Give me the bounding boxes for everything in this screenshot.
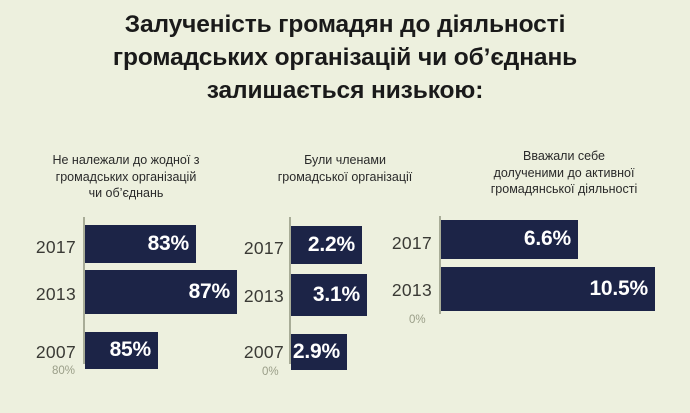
chart-1-bar-2013: 87% — [85, 270, 237, 314]
chart-2-bar-2017: 2.2% — [291, 226, 362, 264]
chart-3-plot: 2017 6.6% 2013 10.5% 0% — [442, 198, 686, 348]
chart-1-title-line-2: громадських організацій — [10, 169, 242, 186]
chart-2-value-2007: 2.9% — [293, 340, 347, 364]
chart-2-plot: 2017 2.2% 2013 3.1% 2007 2.9% 0% — [252, 185, 438, 335]
chart-2-title-line-2: громадської організації — [252, 169, 438, 186]
chart-1-value-2017: 83% — [148, 232, 196, 256]
headline-line-3: залишається низькою: — [0, 74, 690, 107]
chart-3-bar-2017: 6.6% — [441, 220, 578, 259]
chart-1-title: Не належали до жодної з громадських орга… — [10, 148, 242, 202]
chart-2-axis-origin-label: 0% — [262, 366, 279, 378]
chart-1-bar-2007: 85% — [85, 332, 158, 369]
chart-1-year-2017: 2017 — [10, 237, 76, 258]
chart-3-bar-2013: 10.5% — [441, 267, 655, 311]
chart-2-title: Були членами громадської організації — [252, 148, 438, 185]
chart-1-axis-origin-label: 80% — [52, 365, 75, 377]
chart-2-bar-2013: 3.1% — [291, 274, 367, 316]
chart-panel-not-member: Не належали до жодної з громадських орга… — [10, 148, 242, 352]
chart-3-title-line-1: Вважали себе — [442, 148, 686, 165]
chart-3-year-2013: 2013 — [372, 280, 432, 301]
infographic-page: Залученість громадян до діяльності грома… — [0, 0, 690, 413]
headline-line-1: Залученість громадян до діяльності — [0, 8, 690, 41]
chart-3-title-line-3: громадянської діяльності — [442, 181, 686, 198]
chart-1-year-2007: 2007 — [10, 342, 76, 363]
chart-2-year-2017: 2017 — [224, 238, 284, 259]
chart-1-bar-2017: 83% — [85, 225, 196, 263]
chart-1-title-line-1: Не належали до жодної з — [10, 152, 242, 169]
chart-1-title-line-3: чи об’єднань — [10, 185, 242, 202]
chart-2-title-line-1: Були членами — [252, 152, 438, 169]
chart-1-year-2013: 2013 — [10, 284, 76, 305]
chart-2-bar-2007: 2.9% — [291, 334, 347, 370]
chart-3-value-2017: 6.6% — [524, 227, 578, 251]
chart-1-value-2007: 85% — [110, 338, 158, 362]
chart-3-value-2013: 10.5% — [589, 277, 655, 301]
chart-2-year-2007: 2007 — [224, 342, 284, 363]
chart-3-title: Вважали себе долученими до активної гром… — [442, 148, 686, 198]
page-title: Залученість громадян до діяльності грома… — [0, 8, 690, 107]
chart-panel-active-citizen: Вважали себе долученими до активної гром… — [442, 148, 686, 348]
chart-2-value-2017: 2.2% — [308, 233, 362, 257]
chart-3-axis-origin-label: 0% — [409, 314, 426, 326]
chart-2-value-2013: 3.1% — [313, 283, 367, 307]
chart-2-year-2013: 2013 — [224, 286, 284, 307]
headline-line-2: громадських організацій чи об’єднань — [0, 41, 690, 74]
chart-3-year-2017: 2017 — [372, 233, 432, 254]
chart-1-plot: 2017 83% 2013 87% 2007 85% 80% — [10, 202, 242, 352]
chart-3-title-line-2: долученими до активної — [442, 165, 686, 182]
